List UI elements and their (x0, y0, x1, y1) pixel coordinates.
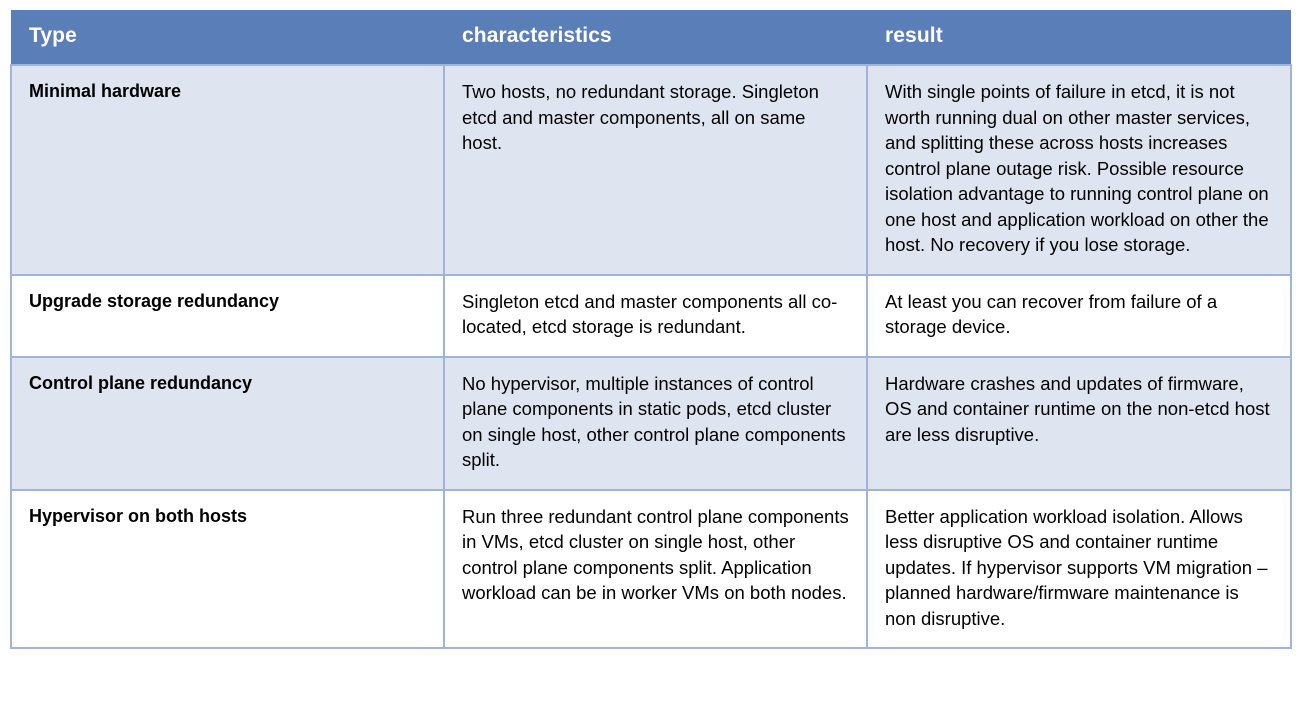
cell-characteristics: Two hosts, no redundant storage. Singlet… (444, 65, 867, 275)
cell-result: Better application workload isolation. A… (867, 490, 1291, 649)
table-row: Minimal hardware Two hosts, no redundant… (11, 65, 1291, 275)
column-header-result: result (867, 10, 1291, 65)
cluster-topology-comparison-table: Type characteristics result Minimal hard… (10, 10, 1292, 649)
cell-result: At least you can recover from failure of… (867, 275, 1291, 357)
comparison-table-container: Type characteristics result Minimal hard… (10, 10, 1290, 649)
cell-type: Hypervisor on both hosts (11, 490, 444, 649)
column-header-type: Type (11, 10, 444, 65)
table-body: Minimal hardware Two hosts, no redundant… (11, 65, 1291, 648)
table-row: Upgrade storage redundancy Singleton etc… (11, 275, 1291, 357)
cell-characteristics: Run three redundant control plane compon… (444, 490, 867, 649)
table-header: Type characteristics result (11, 10, 1291, 65)
table-row: Control plane redundancy No hypervisor, … (11, 357, 1291, 490)
table-row: Hypervisor on both hosts Run three redun… (11, 490, 1291, 649)
cell-type: Control plane redundancy (11, 357, 444, 490)
header-row: Type characteristics result (11, 10, 1291, 65)
cell-characteristics: Singleton etcd and master components all… (444, 275, 867, 357)
cell-result: With single points of failure in etcd, i… (867, 65, 1291, 275)
column-header-characteristics: characteristics (444, 10, 867, 65)
cell-type: Upgrade storage redundancy (11, 275, 444, 357)
cell-type: Minimal hardware (11, 65, 444, 275)
cell-result: Hardware crashes and updates of firmware… (867, 357, 1291, 490)
cell-characteristics: No hypervisor, multiple instances of con… (444, 357, 867, 490)
